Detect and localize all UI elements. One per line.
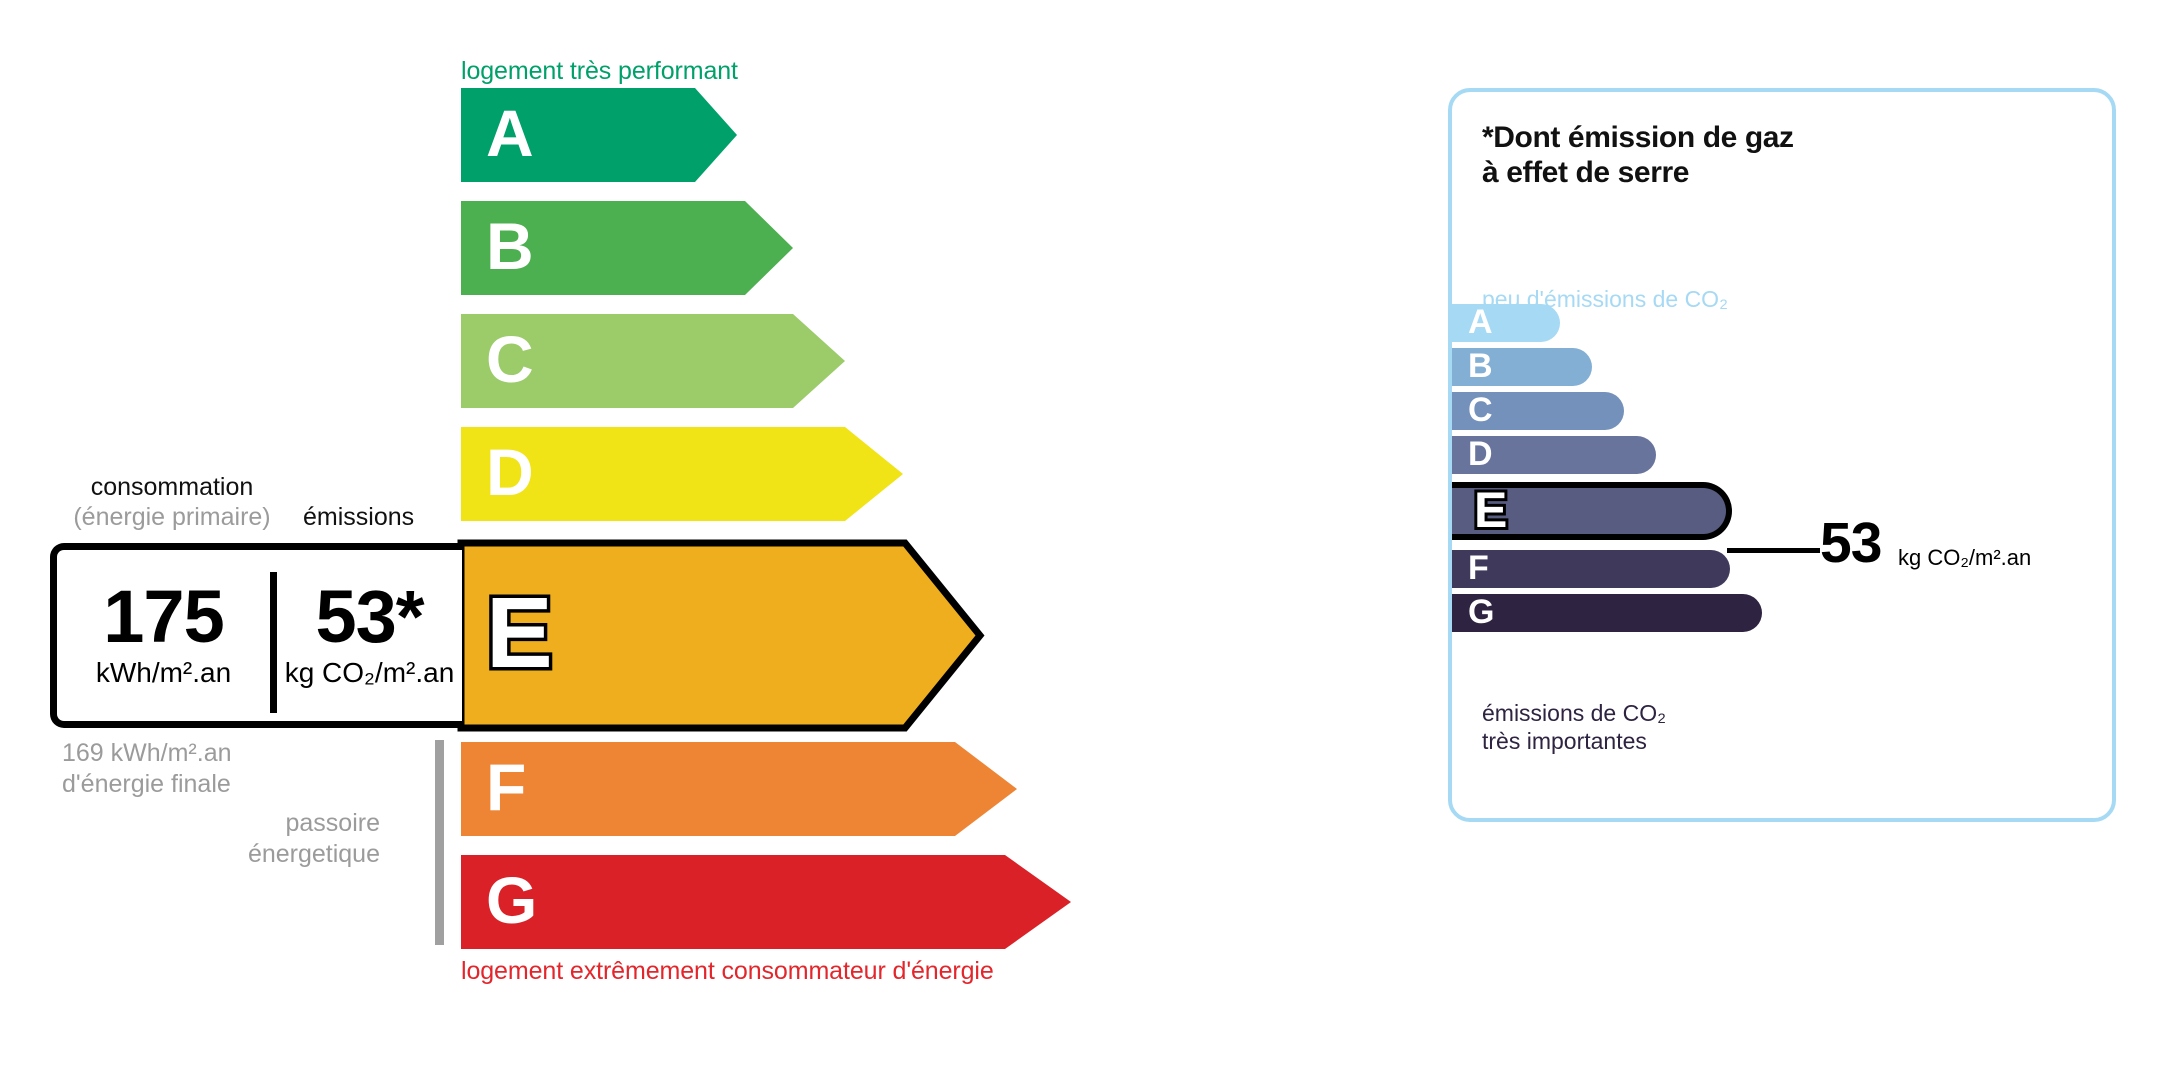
co2-scale-bottom-caption-line2: très importantes [1482, 728, 1666, 756]
co2-class-letter-a: A [1468, 305, 1493, 339]
co2-class-bar-f [1452, 550, 1730, 588]
co2-scale-bottom-caption: émissions de CO₂ très importantes [1482, 700, 1666, 755]
energy-scale-bottom-caption: logement extrêmement consommateur d'éner… [461, 957, 994, 986]
label-energie-finale: 169 kWh/m².an d'énergie finale [62, 738, 232, 799]
co2-class-letter-d: D [1468, 437, 1493, 471]
co2-scale-bottom-caption-line1: émissions de CO₂ [1482, 700, 1666, 728]
primary-energy-value: 175 [103, 582, 223, 652]
passoire-energetique-bar [435, 740, 444, 945]
label-emissions: émissions [303, 503, 414, 532]
co2-panel-title-line1: *Dont émission de gaz [1482, 120, 1794, 155]
energy-class-letter-d: D [486, 439, 534, 505]
dpe-diagram: logement très performant ABCDEFG logemen… [0, 0, 2169, 1079]
co2-callout-unit: kg CO₂/m².an [1898, 545, 2031, 571]
greenhouse-gas-panel: *Dont émission de gaz à effet de serre p… [1448, 88, 2116, 822]
value-box: 175 kWh/m².an 53* kg CO₂/m².an [50, 543, 462, 728]
energy-class-letter-g: G [486, 867, 537, 933]
co2-value: 53* [315, 582, 423, 652]
label-passoire-line2: énergetique [140, 839, 380, 870]
primary-energy-value-cell: 175 kWh/m².an [57, 550, 270, 721]
energy-class-arrow-f [461, 742, 1017, 836]
co2-unit: kg CO₂/m².an [285, 657, 455, 689]
label-passoire-line1: passoire [140, 808, 380, 839]
energy-arrows-svg [0, 0, 1400, 1079]
energy-class-letter-e: E [486, 583, 553, 683]
co2-panel-title-line2: à effet de serre [1482, 155, 1794, 190]
energy-class-letter-c: C [486, 326, 534, 392]
label-energie-finale-line2: d'énergie finale [62, 769, 232, 800]
energy-class-arrow-g [461, 855, 1071, 949]
primary-energy-unit: kWh/m².an [96, 657, 231, 689]
co2-class-letter-b: B [1468, 349, 1493, 383]
label-passoire-energetique: passoire énergetique [140, 808, 380, 869]
co2-leader-line [1727, 548, 1820, 553]
co2-class-letter-g: G [1468, 595, 1494, 629]
label-energie-primaire: (énergie primaire) [44, 503, 300, 532]
co2-class-letter-c: C [1468, 393, 1493, 427]
co2-value-cell: 53* kg CO₂/m².an [277, 550, 462, 721]
co2-class-letter-e: E [1474, 485, 1507, 535]
value-box-divider [270, 572, 277, 713]
label-energie-finale-line1: 169 kWh/m².an [62, 738, 232, 769]
energy-class-letter-b: B [486, 213, 534, 279]
co2-callout-value: 53 [1820, 515, 1881, 572]
co2-class-letter-f: F [1468, 551, 1489, 585]
co2-panel-title: *Dont émission de gaz à effet de serre [1482, 120, 1794, 190]
energy-class-letter-f: F [486, 754, 526, 820]
energy-class-letter-a: A [486, 100, 534, 166]
co2-class-bar-g [1452, 594, 1762, 632]
label-consommation: consommation [63, 473, 281, 502]
energy-performance-panel: logement très performant ABCDEFG logemen… [0, 0, 1400, 1079]
